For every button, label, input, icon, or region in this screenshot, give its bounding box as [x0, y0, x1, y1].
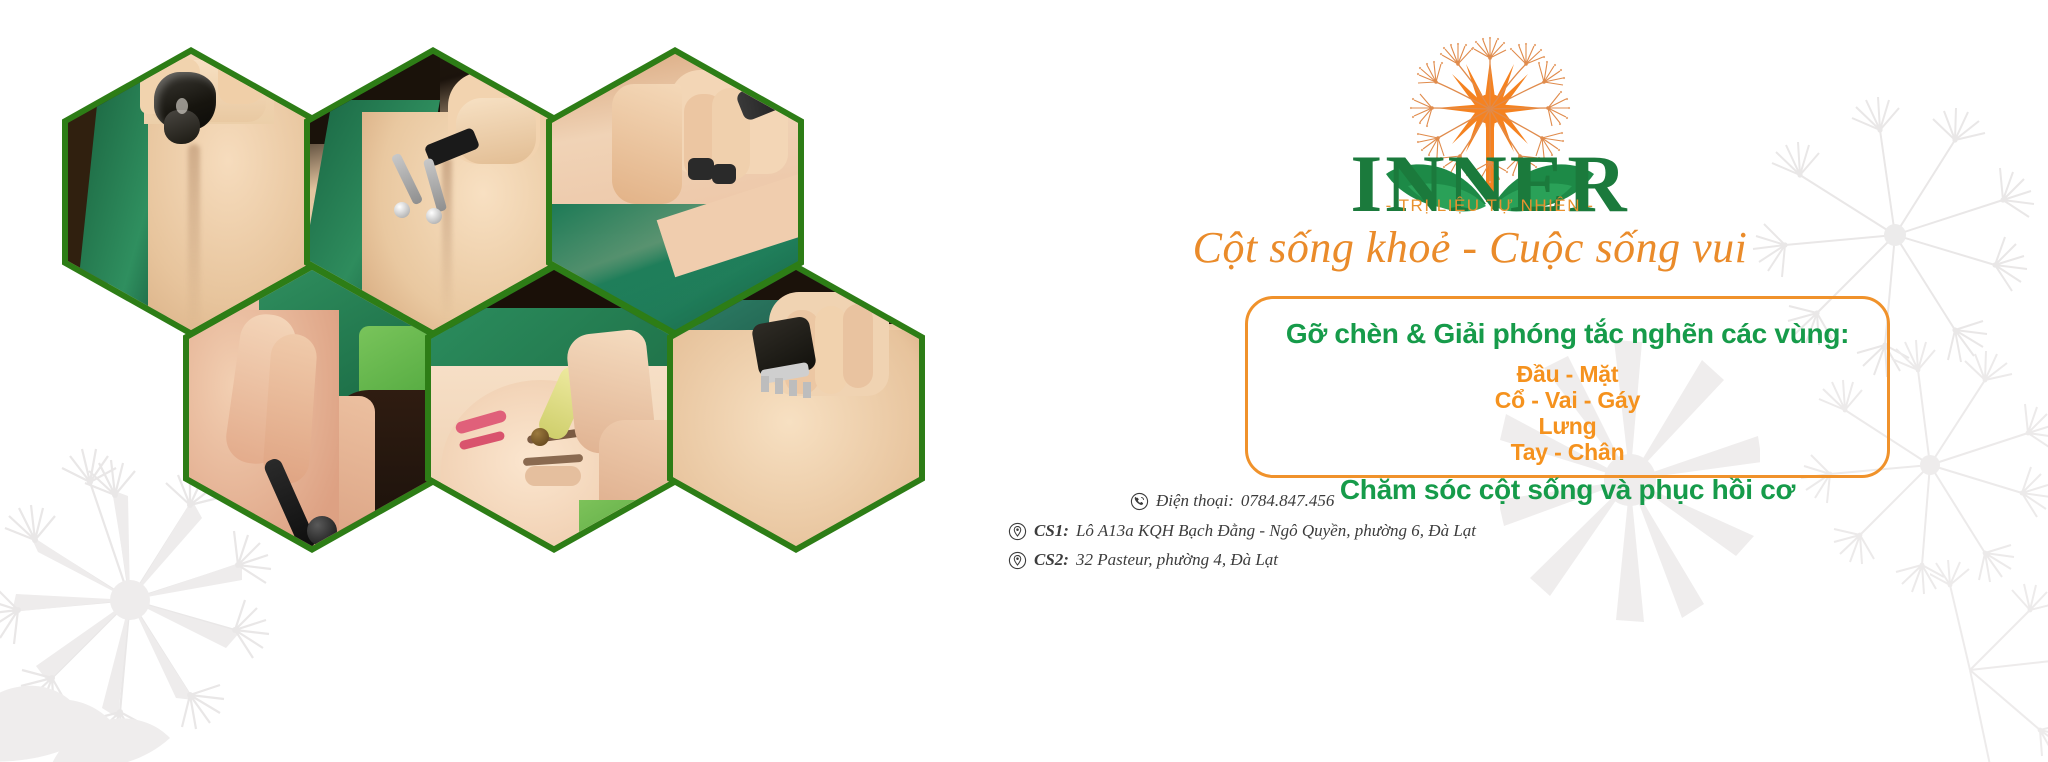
contact-address-2-value: 32 Pasteur, phường 4, Đà Lạt	[1076, 551, 1278, 570]
brand-slogan: Cột sống khoẻ - Cuộc sống vui	[970, 222, 1970, 273]
services-box: Gỡ chèn & Giải phóng tắc nghẽn các vùng:…	[1245, 296, 1890, 478]
gallery-photo-4[interactable]	[183, 263, 441, 553]
gallery-photo-5[interactable]	[425, 263, 683, 553]
contact-address-1-value: Lô A13a KQH Bạch Đằng - Ngô Quyền, phườn…	[1076, 522, 1476, 541]
brand-panel: INNER - TRỊ LIỆU TỰ NHIÊN - Cột sống kho…	[960, 0, 2048, 762]
service-zone-4: Tay - Chân	[1248, 439, 1887, 465]
contact-phone-label: Điện thoại:	[1156, 492, 1234, 511]
gallery-photo-6[interactable]	[667, 263, 925, 553]
services-heading: Gỡ chèn & Giải phóng tắc nghẽn các vùng:	[1248, 318, 1887, 350]
location-pin-icon	[1008, 551, 1027, 570]
location-pin-icon	[1008, 522, 1027, 541]
contact-address-2-label: CS2:	[1034, 551, 1069, 570]
service-zone-1: Đầu - Mặt	[1248, 361, 1887, 387]
contact-phone-value: 0784.847.456	[1241, 492, 1335, 511]
phone-icon	[1130, 492, 1149, 511]
contact-address-1-label: CS1:	[1034, 522, 1069, 541]
service-zone-3: Lưng	[1248, 413, 1887, 439]
contact-address-1-row[interactable]: CS1: Lô A13a KQH Bạch Đằng - Ngô Quyền, …	[960, 522, 1960, 541]
photo-gallery	[0, 0, 960, 762]
brand-subtitle: - TRỊ LIỆU TỰ NHIÊN -	[1260, 196, 1720, 216]
contact-block: Điện thoại: 0784.847.456 CS1: Lô A13a KQ…	[960, 492, 1960, 570]
contact-address-2-row[interactable]: CS2: 32 Pasteur, phường 4, Đà Lạt	[960, 551, 1960, 570]
contact-phone-row[interactable]: Điện thoại: 0784.847.456	[960, 492, 1960, 511]
poster-canvas: INNER - TRỊ LIỆU TỰ NHIÊN - Cột sống kho…	[0, 0, 2048, 762]
service-zone-2: Cổ - Vai - Gáy	[1248, 387, 1887, 413]
